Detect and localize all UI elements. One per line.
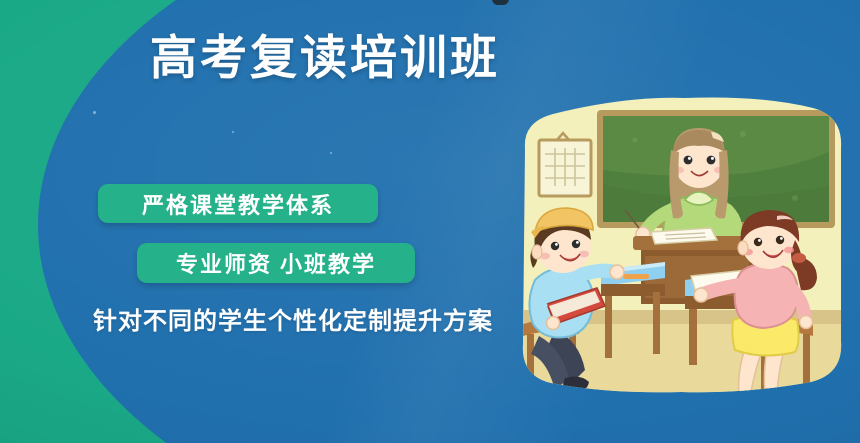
sparkle-dot — [232, 131, 234, 133]
classroom-illustration — [505, 92, 855, 397]
page-title: 高考复读培训班 — [150, 33, 500, 84]
wall-poster — [539, 133, 591, 196]
feature-badge-small-class: 专业师资 小班教学 — [137, 243, 415, 283]
feature-badge-strict-teaching-system: 严格课堂教学体系 — [98, 184, 378, 223]
subheadline: 针对不同的学生个性化定制提升方案 — [88, 301, 498, 336]
sparkle-dot — [330, 152, 332, 154]
feature-badge-label: 专业师资 小班教学 — [176, 247, 376, 279]
feature-badge-label: 严格课堂教学体系 — [142, 188, 334, 220]
sparkle-dot — [93, 111, 96, 114]
promo-banner: 高考复读培训班 严格课堂教学体系 专业师资 小班教学 针对不同的学生个性化定制提… — [0, 0, 860, 443]
